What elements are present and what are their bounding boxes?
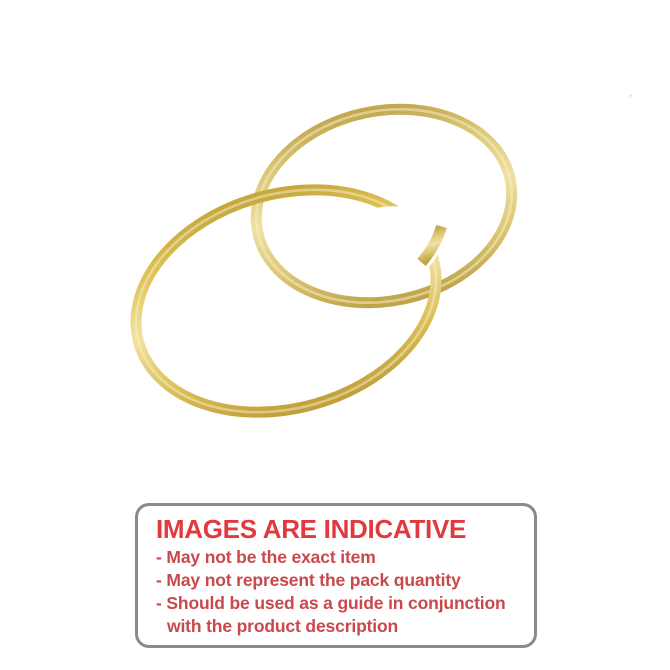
- indicative-notice-badge: IMAGES ARE INDICATIVE - May not be the e…: [135, 503, 537, 648]
- image-speck-artifact: [629, 94, 632, 97]
- indicative-bullet-3-continuation: with the product description: [156, 615, 534, 638]
- product-image-screenshot: IMAGES ARE INDICATIVE - May not be the e…: [0, 0, 670, 670]
- o-rings-illustration: [0, 0, 670, 480]
- indicative-bullet-1: - May not be the exact item: [156, 546, 534, 569]
- product-photo: [0, 0, 670, 480]
- indicative-heading: IMAGES ARE INDICATIVE: [156, 515, 534, 543]
- o-ring-crossing-overlap: [415, 226, 448, 262]
- indicative-bullet-3: - Should be used as a guide in conjuncti…: [156, 592, 534, 615]
- indicative-bullet-2: - May not represent the pack quantity: [156, 569, 534, 592]
